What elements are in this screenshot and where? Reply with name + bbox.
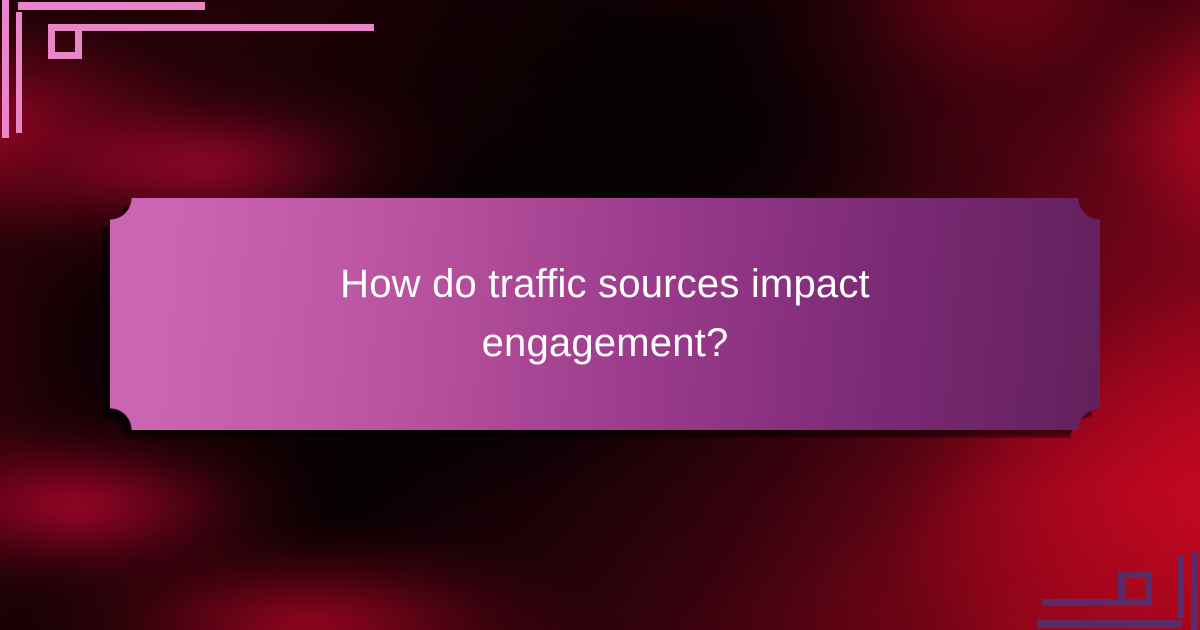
ornament-line-horizontal-top: [18, 2, 205, 10]
ornament-line-vertical-inner: [1178, 556, 1184, 618]
corner-ornament-bottom-right: [940, 510, 1200, 630]
ornament-line-horizontal-bottom: [1037, 620, 1182, 628]
headline-banner: How do traffic sources impact engagement…: [110, 198, 1100, 430]
banner-surface: How do traffic sources impact engagement…: [110, 198, 1100, 430]
page-title: How do traffic sources impact engagement…: [275, 255, 935, 373]
ornament-line-horizontal-mid: [82, 24, 374, 31]
card-canvas: How do traffic sources impact engagement…: [0, 0, 1200, 630]
ornament-line-vertical-outer: [2, 0, 9, 138]
ornament-line-vertical-inner: [16, 12, 22, 133]
corner-ornament-top-left: [0, 0, 260, 160]
ornament-line-vertical-outer: [1191, 552, 1198, 630]
ornament-square: [48, 24, 82, 59]
ornament-square: [1118, 571, 1152, 606]
